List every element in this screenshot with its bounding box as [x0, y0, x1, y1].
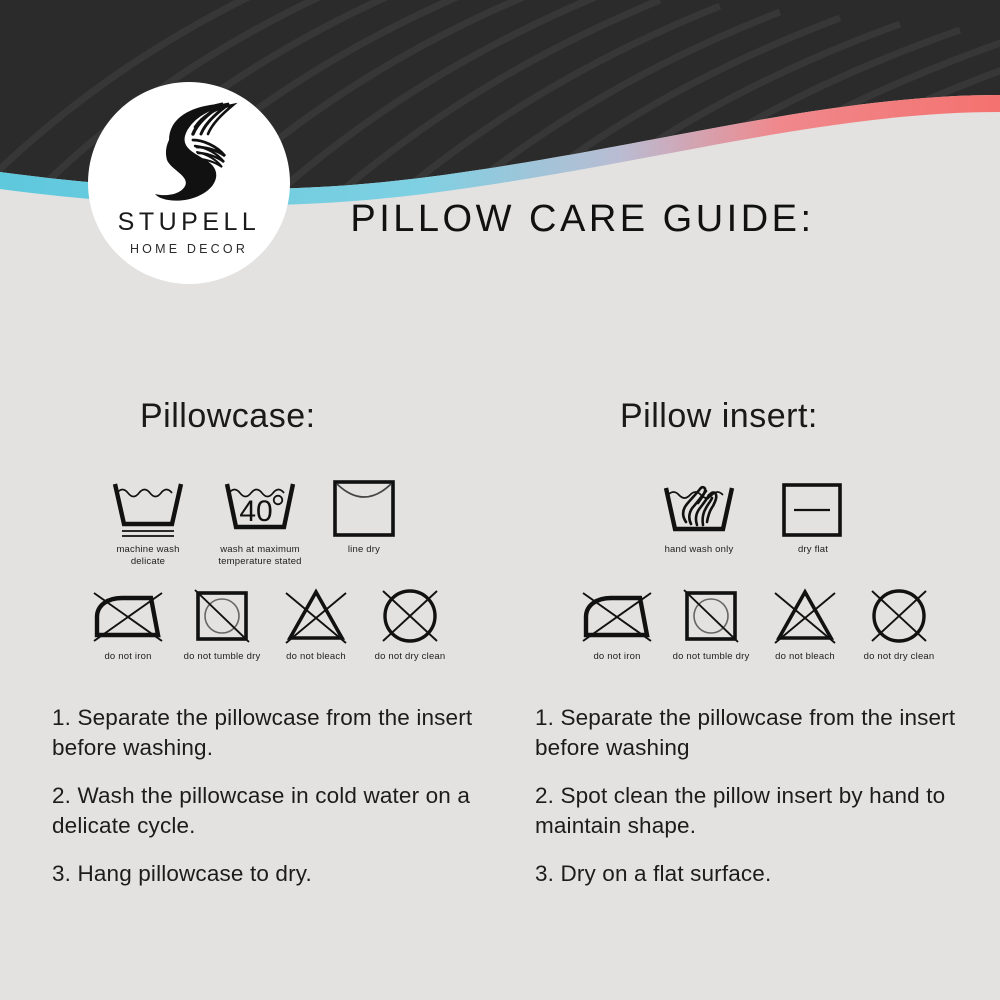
- pillowcase-icon-row-2: do not iron do not tumble dry do not ble…: [88, 585, 450, 663]
- care-icon-label: dry flat: [798, 544, 828, 556]
- care-icon-label: do not tumble dry: [673, 651, 750, 663]
- instruction-step: 2. Spot clean the pillow insert by hand …: [535, 781, 975, 841]
- instruction-step: 3. Hang pillowcase to dry.: [52, 859, 492, 889]
- do-not-tumble-dry-icon: [182, 585, 262, 647]
- care-icon-do-not-tumble-dry: do not tumble dry: [182, 585, 262, 663]
- care-icon-label: wash at maximumtemperature stated: [218, 544, 301, 568]
- instruction-step: 2. Wash the pillowcase in cold water on …: [52, 781, 492, 841]
- do-not-dry-clean-icon: [370, 585, 450, 647]
- care-icon-do-not-dry-clean: do not dry clean: [370, 585, 450, 663]
- dry-flat-icon: [777, 478, 849, 540]
- do-not-bleach-icon: [765, 585, 845, 647]
- svg-text:40: 40: [239, 495, 272, 528]
- brand-name: STUPELL: [118, 210, 261, 235]
- pillowcase-icon-row-1: machine washdelicate 40 wash at maximumt…: [104, 478, 400, 568]
- hand-wash-only-icon: [655, 478, 743, 540]
- care-icon-label: do not iron: [593, 651, 640, 663]
- do-not-dry-clean-icon: [859, 585, 939, 647]
- pillow-care-guide-page: STUPELL HOME DECOR PILLOW CARE GUIDE: Pi…: [0, 0, 1000, 1000]
- brand-tagline: HOME DECOR: [130, 242, 248, 256]
- wash-40-degrees-icon: 40: [216, 478, 304, 540]
- care-icon-label: do not bleach: [775, 651, 835, 663]
- care-icon-dry-flat: dry flat: [777, 478, 849, 556]
- care-icon-label: do not tumble dry: [184, 651, 261, 663]
- care-icon-label: do not iron: [104, 651, 151, 663]
- care-icon-do-not-bleach: do not bleach: [765, 585, 845, 663]
- pillow-insert-icon-row-1: hand wash only dry flat: [655, 478, 849, 556]
- instruction-step: 1. Separate the pillowcase from the inse…: [535, 703, 975, 763]
- care-icon-hand-wash-only: hand wash only: [655, 478, 743, 556]
- care-icon-label: machine washdelicate: [116, 544, 179, 568]
- pillow-insert-icon-row-2: do not iron do not tumble dry do not ble…: [577, 585, 939, 663]
- care-icon-label: do not dry clean: [864, 651, 935, 663]
- machine-wash-delicate-icon: [104, 478, 192, 540]
- do-not-bleach-icon: [276, 585, 356, 647]
- section-title-pillow-insert: Pillow insert:: [620, 397, 818, 436]
- care-icon-do-not-dry-clean: do not dry clean: [859, 585, 939, 663]
- care-icon-do-not-iron: do not iron: [88, 585, 168, 663]
- instruction-step: 1. Separate the pillowcase from the inse…: [52, 703, 492, 763]
- brand-logo-badge: STUPELL HOME DECOR: [88, 82, 290, 284]
- do-not-iron-icon: [88, 585, 168, 647]
- pillowcase-instructions: 1. Separate the pillowcase from the inse…: [52, 703, 492, 907]
- care-icon-do-not-bleach: do not bleach: [276, 585, 356, 663]
- care-icon-label: do not dry clean: [375, 651, 446, 663]
- pillow-insert-instructions: 1. Separate the pillowcase from the inse…: [535, 703, 975, 907]
- care-icon-line-dry: line dry: [328, 478, 400, 556]
- do-not-tumble-dry-icon: [671, 585, 751, 647]
- care-icon-label: do not bleach: [286, 651, 346, 663]
- care-icon-do-not-iron: do not iron: [577, 585, 657, 663]
- do-not-iron-icon: [577, 585, 657, 647]
- care-icon-machine-wash-delicate: machine washdelicate: [104, 478, 192, 568]
- care-icon-wash-40: 40 wash at maximumtemperature stated: [216, 478, 304, 568]
- care-icon-label: hand wash only: [665, 544, 734, 556]
- care-icon-label: line dry: [348, 544, 380, 556]
- instruction-step: 3. Dry on a flat surface.: [535, 859, 975, 889]
- care-icon-do-not-tumble-dry: do not tumble dry: [671, 585, 751, 663]
- stupell-swoosh-logo-icon: [133, 100, 245, 208]
- line-dry-icon: [328, 478, 400, 540]
- section-title-pillowcase: Pillowcase:: [140, 397, 316, 436]
